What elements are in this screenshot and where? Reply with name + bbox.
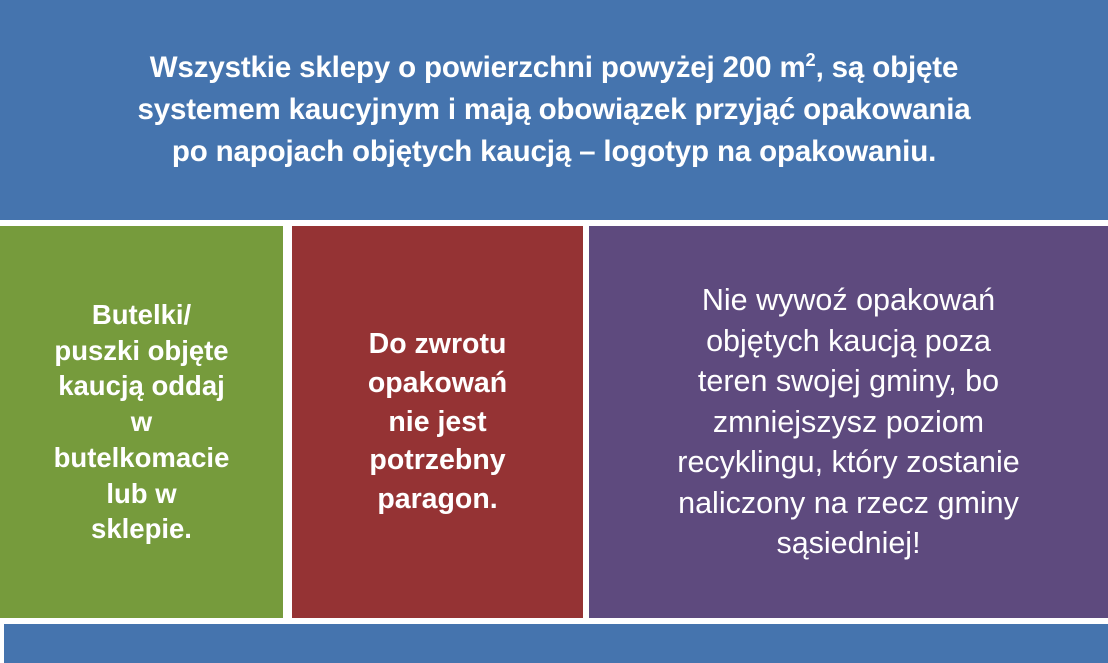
header-message: Wszystkie sklepy o powierzchni powyżej 2… — [22, 47, 1086, 173]
poster-root: Wszystkie sklepy o powierzchni powyżej 2… — [0, 0, 1108, 663]
header-banner: Wszystkie sklepy o powierzchni powyżej 2… — [0, 0, 1108, 220]
panel-red: Do zwrotu opakowań nie jest potrzebny pa… — [292, 226, 583, 618]
panel-row: Butelki/ puszki objęte kaucją oddaj w bu… — [0, 226, 1108, 618]
panel-green: Butelki/ puszki objęte kaucją oddaj w bu… — [0, 226, 283, 618]
panel-green-text: Butelki/ puszki objęte kaucją oddaj w bu… — [0, 297, 283, 547]
header-line2: systemem kaucyjnym i mają obowiązek przy… — [137, 93, 970, 126]
header-line1-end: , są objęte — [816, 51, 959, 84]
header-superscript: 2 — [806, 49, 816, 70]
panel-red-text: Do zwrotu opakowań nie jest potrzebny pa… — [292, 325, 583, 519]
footer-bar — [4, 624, 1108, 663]
header-line3: po napojach objętych kaucją – logotyp na… — [172, 135, 936, 168]
panel-purple-text: Nie wywoź opakowań objętych kaucją poza … — [589, 280, 1108, 564]
panel-purple: Nie wywoź opakowań objętych kaucją poza … — [589, 226, 1108, 618]
header-line1-start: Wszystkie sklepy o powierzchni powyżej 2… — [150, 51, 806, 84]
